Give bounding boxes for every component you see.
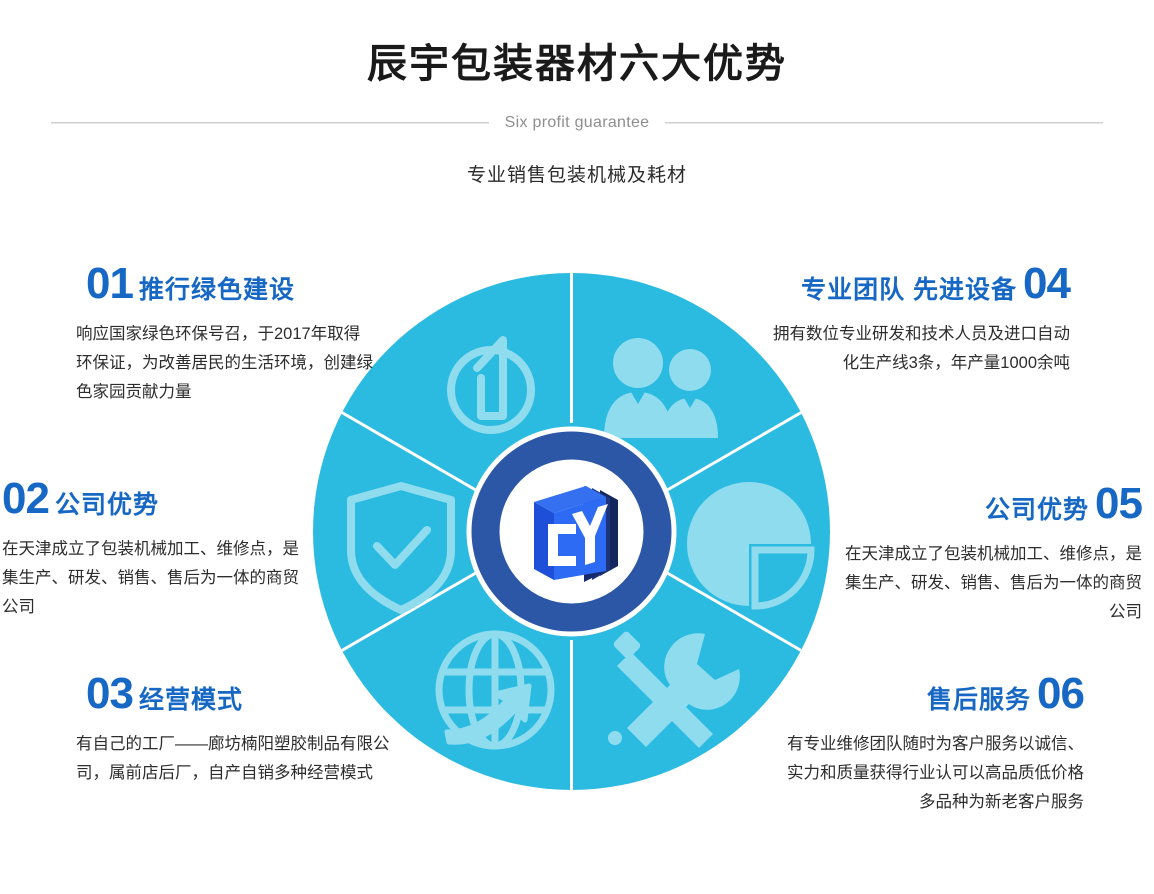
advantage-number-03: 03 [86,672,133,716]
pie-chart-icon [687,482,811,606]
advantage-heading-03: 03 经营模式 [86,672,396,716]
divider-line-left [51,122,489,124]
advantage-number-02: 02 [2,477,49,521]
subtitle-divider-row: Six profit guarantee [0,110,1154,136]
advantage-heading-02: 02 公司优势 [2,477,302,521]
advantage-number-05: 05 [1095,482,1142,526]
advantage-label-02: 公司优势 [55,493,159,518]
advantage-body-06: 有专业维修团队随时为客户服务以诚信、实力和质量获得行业认可以高品质低价格多品种为… [772,730,1084,817]
advantage-body-01: 响应国家绿色环保号召，于2017年取得环保证，为改善居民的生活环境，创建绿色家园… [76,320,376,407]
advantage-label-06: 售后服务 [927,688,1031,713]
page-title: 辰宇包装器材六大优势 [0,40,1154,88]
advantage-block-06: 售后服务 06 有专业维修团队随时为客户服务以诚信、实力和质量获得行业认可以高品… [772,672,1084,817]
advantage-body-02: 在天津成立了包装机械加工、维修点，是集生产、研发、销售、售后为一体的商贸公司 [2,535,302,622]
advantage-heading-04: 专业团队 先进设备 04 [770,262,1070,306]
center-logo [513,473,631,591]
advantage-heading-01: 01 推行绿色建设 [86,262,376,306]
advantage-block-01: 01 推行绿色建设 响应国家绿色环保号召，于2017年取得环保证，为改善居民的生… [76,262,376,407]
subtitle-chinese: 专业销售包装机械及耗材 [0,160,1154,187]
subtitle-english: Six profit guarantee [505,114,650,132]
advantage-body-05: 在天津成立了包装机械加工、维修点，是集生产、研发、销售、售后为一体的商贸公司 [842,540,1142,627]
advantage-block-04: 专业团队 先进设备 04 拥有数位专业研发和技术人员及进口自动化生产线3条，年产… [770,262,1070,378]
advantage-number-01: 01 [86,262,133,306]
advantage-number-04: 04 [1023,262,1070,306]
advantage-label-05: 公司优势 [985,498,1089,523]
advantage-number-06: 06 [1037,672,1084,716]
advantage-label-04: 专业团队 先进设备 [801,278,1017,303]
advantage-heading-06: 售后服务 06 [772,672,1084,716]
header: 辰宇包装器材六大优势 Six profit guarantee 专业销售包装机械… [0,0,1154,187]
advantage-block-02: 02 公司优势 在天津成立了包装机械加工、维修点，是集生产、研发、销售、售后为一… [2,477,302,622]
advantage-label-01: 推行绿色建设 [139,278,295,303]
advantage-body-03: 有自己的工厂——廊坊楠阳塑胶制品有限公司，属前店后厂，自产自销多种经营模式 [76,730,396,788]
cy-box-logo-icon [514,474,630,590]
divider-line-right [665,122,1103,124]
advantage-body-04: 拥有数位专业研发和技术人员及进口自动化生产线3条，年产量1000余吨 [770,320,1070,378]
advantage-block-05: 公司优势 05 在天津成立了包装机械加工、维修点，是集生产、研发、销售、售后为一… [842,482,1142,627]
advantage-heading-05: 公司优势 05 [842,482,1142,526]
advantage-label-03: 经营模式 [139,688,243,713]
advantages-infographic: 辰宇包装器材六大优势 Six profit guarantee 专业销售包装机械… [0,0,1154,894]
advantage-block-03: 03 经营模式 有自己的工厂——廊坊楠阳塑胶制品有限公司，属前店后厂，自产自销多… [76,672,396,788]
